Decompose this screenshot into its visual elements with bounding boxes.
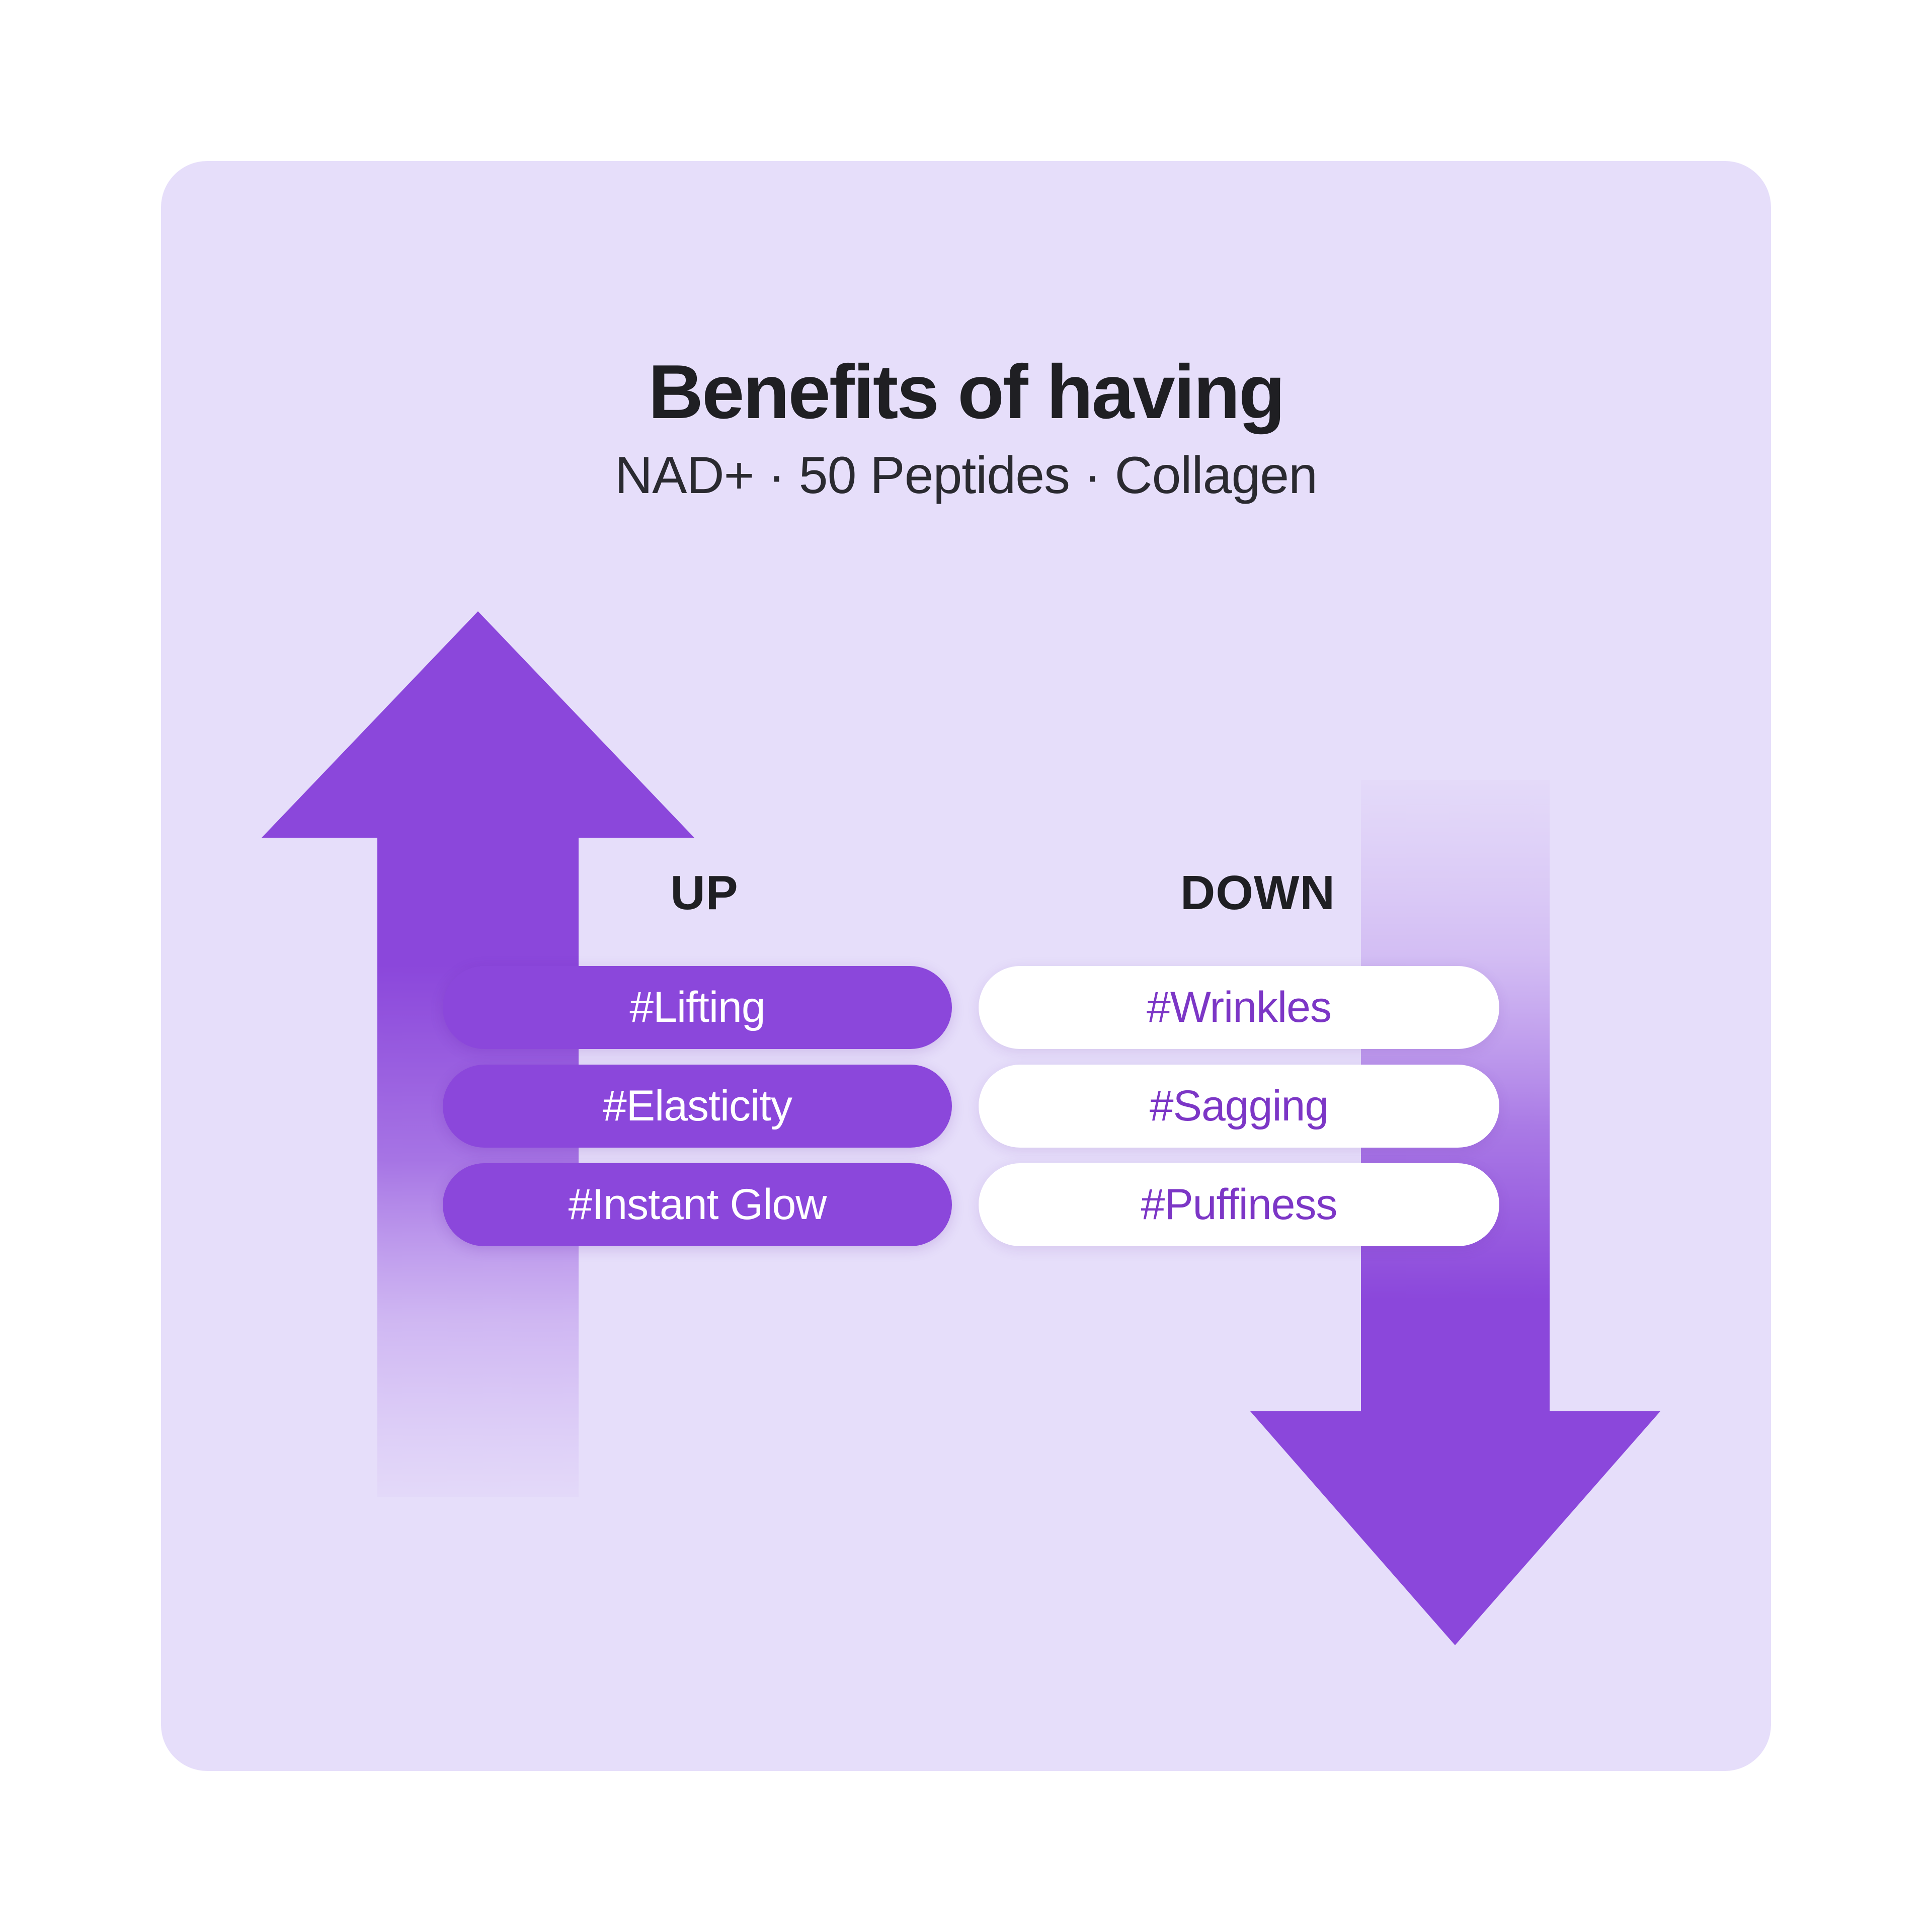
benefits-card: Benefits of having NAD+ · 50 Peptides · … [161,161,1771,1771]
pill-row: #Instant Glow #Puffiness [161,1163,1771,1246]
column-heading-down: DOWN [1107,865,1409,921]
column-heading-up: UP [553,865,855,921]
page-subtitle: NAD+ · 50 Peptides · Collagen [161,447,1771,504]
up-pill-lifting[interactable]: #Lifting [443,966,952,1049]
benefit-columns: UP DOWN #Lifting #Wrinkles #Elasticity #… [161,865,1771,1570]
card-header: Benefits of having NAD+ · 50 Peptides · … [161,352,1771,504]
up-pill-elasticity[interactable]: #Elasticity [443,1065,952,1148]
down-pill-sagging[interactable]: #Sagging [979,1065,1499,1148]
page-title: Benefits of having [161,352,1771,433]
up-pill-instant-glow[interactable]: #Instant Glow [443,1163,952,1246]
infographic-stage: Benefits of having NAD+ · 50 Peptides · … [0,0,1932,1932]
down-pill-wrinkles[interactable]: #Wrinkles [979,966,1499,1049]
column-headings: UP DOWN [161,865,1771,946]
pill-row: #Elasticity #Sagging [161,1065,1771,1148]
down-pill-puffiness[interactable]: #Puffiness [979,1163,1499,1246]
pill-row: #Lifting #Wrinkles [161,966,1771,1049]
benefit-pill-grid: #Lifting #Wrinkles #Elasticity #Sagging … [161,966,1771,1262]
